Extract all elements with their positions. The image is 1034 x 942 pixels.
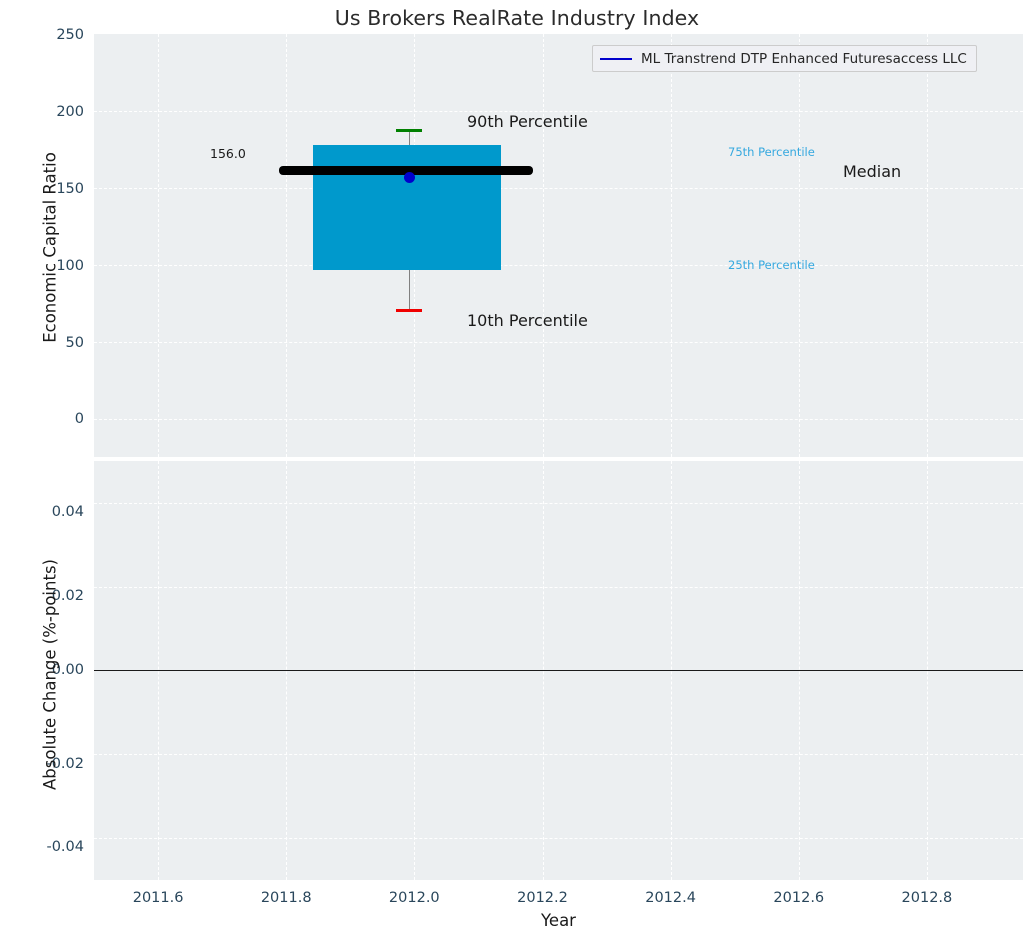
legend[interactable]: ML Transtrend DTP Enhanced Futuresaccess… bbox=[592, 45, 977, 72]
ytick-top-250: 250 bbox=[0, 27, 84, 43]
ytick-top-0: 0 bbox=[0, 411, 84, 427]
xtick-2012-2: 2012.2 bbox=[517, 890, 568, 906]
legend-line-swatch bbox=[600, 58, 632, 60]
zero-reference-line bbox=[94, 670, 1023, 672]
legend-label: ML Transtrend DTP Enhanced Futuresaccess… bbox=[641, 51, 967, 67]
gridline-x-2011-8 bbox=[286, 34, 287, 457]
annotation-10th-percentile: 10th Percentile bbox=[467, 311, 588, 330]
x-axis-label: Year bbox=[94, 911, 1023, 930]
gridline-x-2012-2 bbox=[543, 34, 544, 457]
y-axis-label-bottom: Absolute Change (%-points) bbox=[41, 495, 60, 855]
xtick-2011-8: 2011.8 bbox=[261, 890, 312, 906]
xtick-2012-4: 2012.4 bbox=[645, 890, 696, 906]
gridline-y-neg0-04 bbox=[94, 838, 1023, 839]
company-value-marker[interactable] bbox=[404, 172, 415, 183]
xtick-2012-0: 2012.0 bbox=[389, 890, 440, 906]
gridline-y-0-02 bbox=[94, 587, 1023, 588]
gridline-x-2012-4 bbox=[671, 34, 672, 457]
annotation-25th-percentile: 25th Percentile bbox=[728, 258, 815, 272]
annotation-75th-percentile: 75th Percentile bbox=[728, 145, 815, 159]
gridline-x-2012-8 bbox=[927, 34, 928, 457]
xtick-2012-6: 2012.6 bbox=[773, 890, 824, 906]
gridline-y-0 bbox=[94, 419, 1023, 420]
gridline-x-2012-6 bbox=[799, 34, 800, 457]
median-value-label: 156.0 bbox=[210, 146, 246, 161]
economic-capital-ratio-plot-area bbox=[94, 34, 1023, 457]
chart-figure: Us Brokers RealRate Industry Index 250 2… bbox=[0, 0, 1034, 942]
gridline-y-100 bbox=[94, 265, 1023, 266]
gridline-y-150 bbox=[94, 188, 1023, 189]
xtick-2011-6: 2011.6 bbox=[133, 890, 184, 906]
gridline-y-50 bbox=[94, 342, 1023, 343]
p10-cap bbox=[396, 309, 422, 312]
annotation-median: Median bbox=[843, 162, 901, 181]
gridline-y-0-04 bbox=[94, 503, 1023, 504]
p90-cap bbox=[396, 129, 422, 132]
chart-title: Us Brokers RealRate Industry Index bbox=[0, 6, 1034, 30]
xtick-2012-8: 2012.8 bbox=[902, 890, 953, 906]
absolute-change-plot-area bbox=[94, 461, 1023, 880]
interquartile-range-bar[interactable] bbox=[313, 145, 501, 270]
gridline-y-neg0-02 bbox=[94, 754, 1023, 755]
annotation-90th-percentile: 90th Percentile bbox=[467, 112, 588, 131]
gridline-x-2011-6 bbox=[158, 34, 159, 457]
y-axis-label-top: Economic Capital Ratio bbox=[41, 98, 60, 398]
